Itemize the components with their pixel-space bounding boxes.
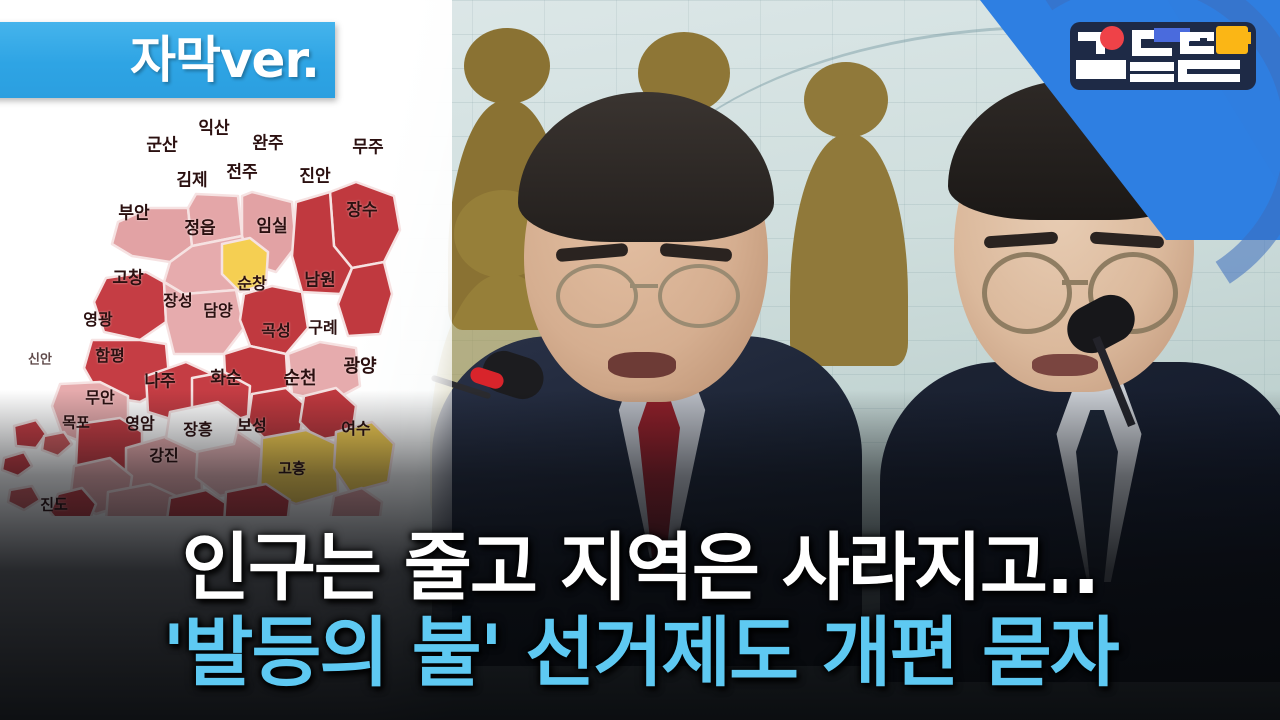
map-label-gunsan: 군산 — [146, 131, 177, 156]
map-label-naju: 나주 — [144, 367, 175, 392]
map-label-jangsu: 장수 — [346, 196, 377, 221]
map-label-namwon: 남원 — [304, 266, 335, 291]
map-label-wanju: 완주 — [252, 129, 283, 154]
map-label-yeonggwang: 영광 — [83, 306, 112, 330]
map-label-gwangyang: 광양 — [343, 352, 376, 378]
map-label-buan: 부안 — [118, 199, 149, 224]
map-label-jangseong: 장성 — [163, 287, 192, 311]
map-label-gochang: 고창 — [112, 264, 143, 289]
map-label-gurye: 구례 — [308, 314, 337, 338]
map-label-jeonju: 전주 — [226, 158, 257, 183]
map-label-iksan: 익산 — [198, 114, 229, 139]
headline-line-1: 인구는 줄고 지역은 사라지고.. — [0, 530, 1280, 607]
map-label-sunchang: 순창 — [237, 270, 266, 294]
map-label-hwasun: 화순 — [210, 364, 241, 389]
subtitle-version-label: 자막ver. — [130, 35, 319, 85]
map-label-hampyeong: 함평 — [95, 342, 124, 366]
channel-logo[interactable] — [1068, 16, 1258, 96]
map-label-jinan: 진안 — [299, 162, 330, 187]
map-label-muju: 무주 — [352, 133, 383, 158]
headline-line-2: '발등의 불' 선거제도 개편 묻자 — [0, 613, 1280, 692]
youtube-thumbnail: 군산 익산 완주 무주 김제 전주 진안 부안 정읍 임실 장수 고창 장성 순… — [0, 0, 1280, 720]
subtitle-version-badge[interactable]: 자막ver. — [0, 22, 335, 98]
map-label-suncheon: 순천 — [283, 364, 316, 390]
map-label-gokseong: 곡성 — [261, 317, 290, 341]
map-label-gimje: 김제 — [176, 166, 207, 191]
channel-logo-svg — [1068, 16, 1258, 96]
map-label-imsil: 임실 — [256, 212, 287, 237]
map-label-jeongeup: 정읍 — [184, 214, 215, 239]
headline-block: 인구는 줄고 지역은 사라지고.. '발등의 불' 선거제도 개편 묻자 — [0, 530, 1280, 692]
map-label-damyang: 담양 — [203, 297, 232, 321]
map-label-sinan: 신안 — [28, 349, 52, 368]
